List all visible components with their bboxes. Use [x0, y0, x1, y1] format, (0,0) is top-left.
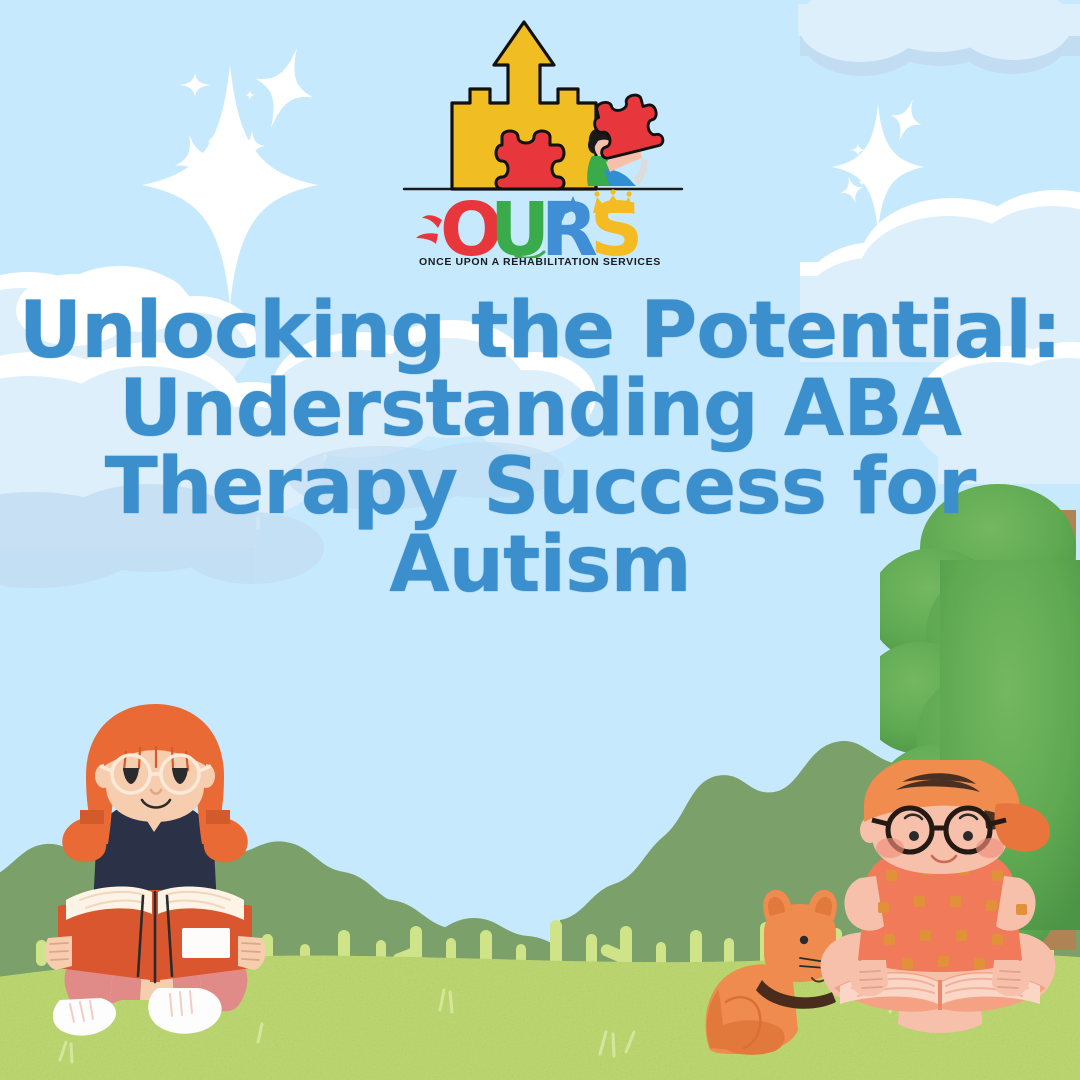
girl-book: [45, 886, 266, 982]
girl-reading: [30, 700, 280, 1050]
o-swoosh: [416, 215, 442, 244]
ours-wordmark: O U R S: [416, 187, 643, 258]
logo-artwork: O U R S: [398, 8, 688, 258]
ours-logo: O U R S ONCE UPON A REHABILITATION SERVI…: [0, 0, 1080, 285]
boy-reading: [810, 760, 1070, 1060]
floating-puzzle-piece: [590, 91, 664, 160]
letter-S: S: [590, 187, 643, 258]
page-title: Unlocking the Potential: Understanding A…: [0, 292, 1080, 604]
boy-head: [860, 760, 1050, 874]
logo-tagline: ONCE UPON A REHABILITATION SERVICES: [0, 256, 1080, 268]
book-label: [182, 928, 230, 958]
poster-canvas: O U R S ONCE UPON A REHABILITATION SERVI…: [0, 0, 1080, 1080]
